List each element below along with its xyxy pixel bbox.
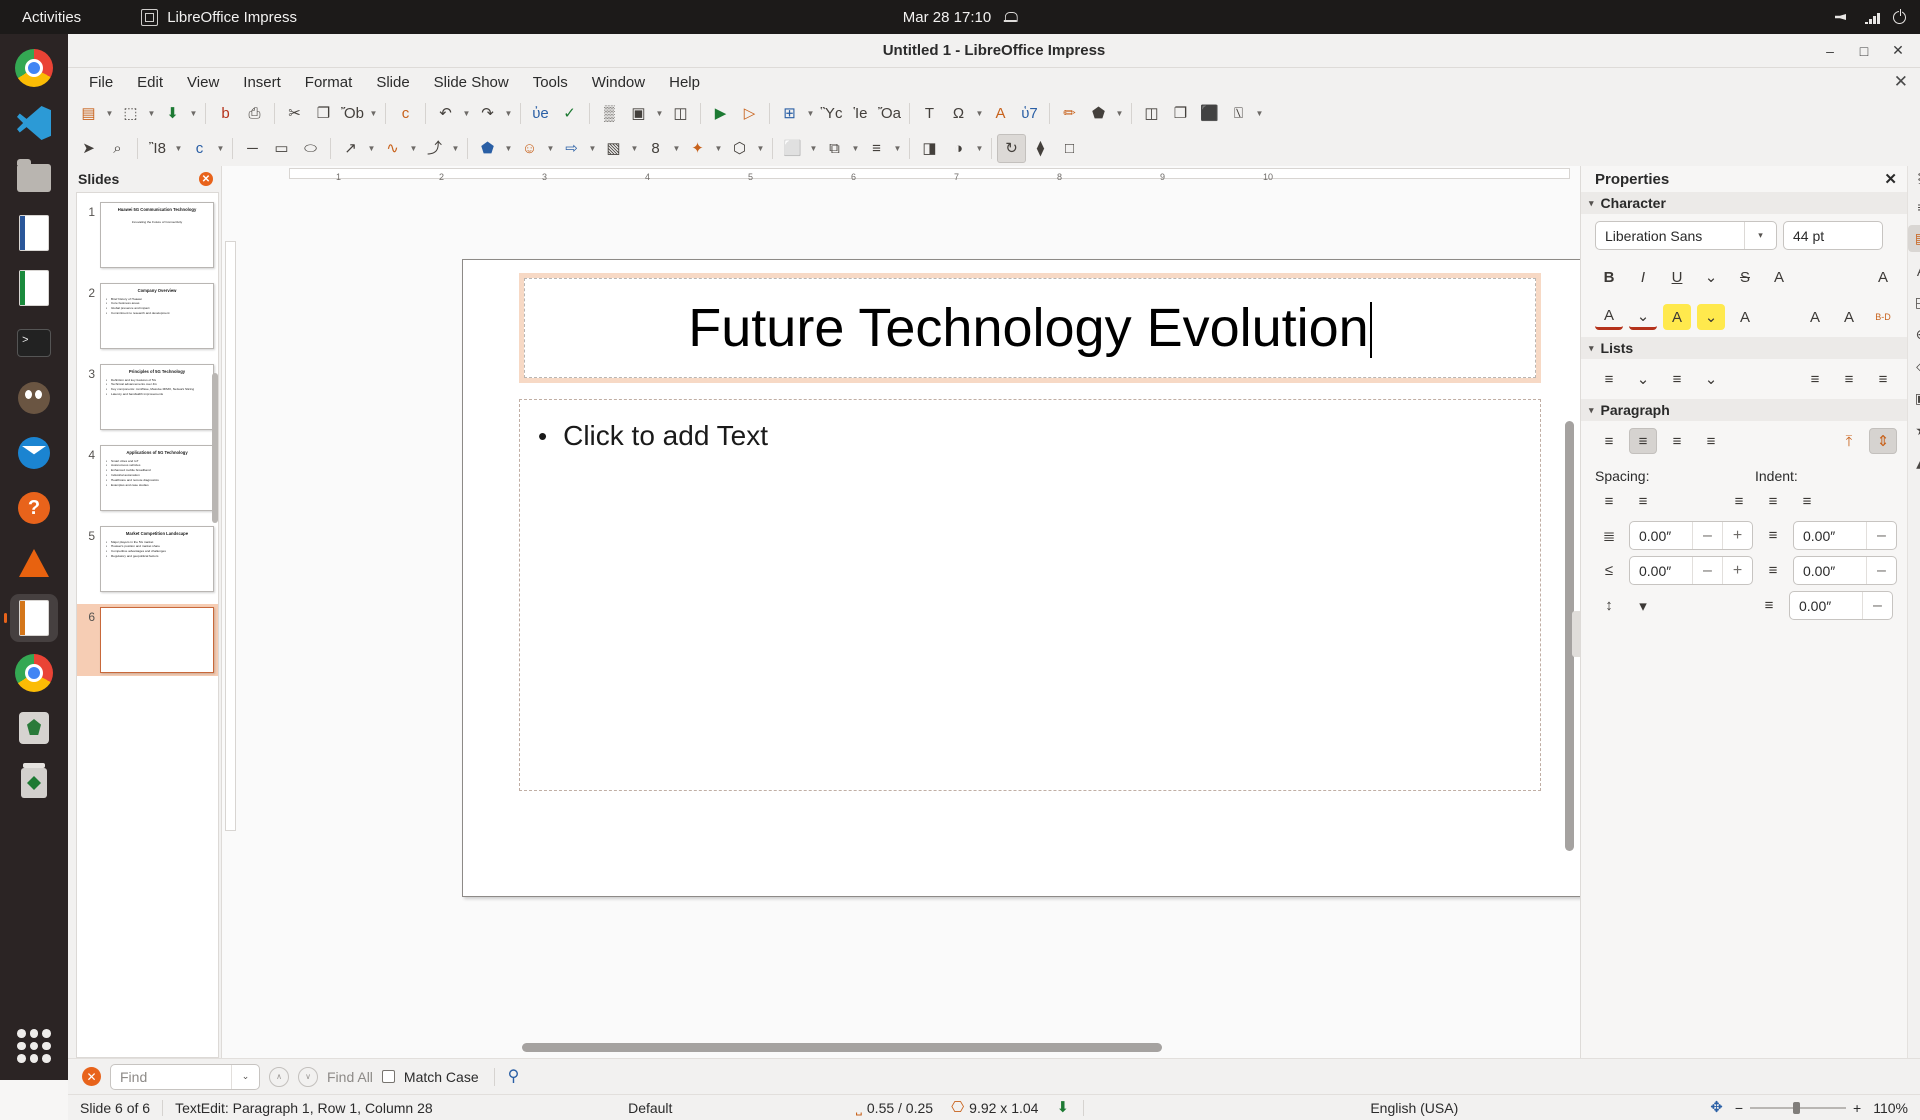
size-icon: ⎔ (951, 1100, 964, 1115)
insert-table-button[interactable]: ⊞ (775, 99, 804, 128)
copy-button[interactable]: ❐ (309, 99, 338, 128)
dock-item-impress[interactable] (10, 594, 58, 642)
spacing-indent-labels: Spacing: Indent: (1581, 461, 1907, 486)
slide-canvas[interactable]: Future Technology Evolution • Click to a… (462, 259, 1580, 897)
start-from-first-slide-button[interactable]: ▶ (706, 99, 735, 128)
sidebar-styles-tab[interactable]: A (1908, 257, 1920, 284)
block-arrows-button[interactable]: ⇨ (557, 134, 586, 163)
rotate-object-button[interactable]: ↻ (997, 134, 1026, 163)
decrease-paragraph-spacing-button[interactable]: ≡ (1629, 488, 1657, 514)
font-name-dropdown-icon[interactable]: ▾ (1744, 222, 1776, 249)
zoom-out-button[interactable]: − (1735, 1100, 1743, 1116)
distribute-selection-button[interactable]: ≡ (862, 134, 891, 163)
start-from-current-slide-button[interactable]: ▷ (735, 99, 764, 128)
underline-dropdown[interactable]: ⌄ (1697, 264, 1725, 290)
line-spacing-row: ↕ ▾ ≡ 0.00″ – (1581, 588, 1907, 627)
match-case-checkbox[interactable] (382, 1070, 395, 1083)
toolbar-separator (385, 103, 386, 124)
find-history-dropdown-icon[interactable]: ⌄ (231, 1065, 259, 1089)
thumbnail-title: Principles of 5G Technology (106, 369, 208, 375)
basic-shapes-icon: ⬟ (1092, 106, 1105, 121)
display-views-dropdown-icon[interactable]: ▼ (653, 99, 666, 128)
insert-special-character-dropdown-icon[interactable]: ▼ (973, 99, 986, 128)
slide-number: 6 (79, 607, 95, 624)
zoom-level[interactable]: 110% (1861, 1100, 1920, 1116)
zoom-in-button[interactable]: + (1853, 1100, 1861, 1116)
callout-shapes-button[interactable]: ὞8 (641, 134, 670, 163)
character-spacing-button[interactable]: B-D (1869, 304, 1897, 330)
insert-text-box-button[interactable]: T (915, 99, 944, 128)
filter-image-icon: ◑ (954, 141, 963, 156)
callout-shapes-dropdown-icon[interactable]: ▼ (670, 134, 683, 163)
indent-after-value: 0.00″ (1794, 563, 1866, 579)
block-arrows-icon: ⇨ (565, 141, 578, 156)
lines-and-arrows-dropdown-icon[interactable]: ▼ (365, 134, 378, 163)
select-tool-button[interactable]: ➤ (74, 134, 103, 163)
distribute-selection-dropdown-icon[interactable]: ▼ (891, 134, 904, 163)
promote-outline-button[interactable]: ≡ (1835, 366, 1863, 392)
sidebar-master-slides-tab[interactable]: ▣ (1908, 385, 1920, 412)
cut-button[interactable]: ✂ (280, 99, 309, 128)
menu-help[interactable]: Help (658, 71, 711, 94)
thumbnail-title: Huawei 5G Communication Technology (106, 207, 208, 213)
clock-label: Mar 28 17:10 (903, 9, 991, 26)
slide-thumbnail-3[interactable]: 3Principles of 5G TechnologyDefinition a… (77, 361, 218, 433)
close-document-button[interactable]: ✕ (1894, 72, 1908, 92)
superscript-button[interactable]: A (1801, 304, 1829, 330)
find-input[interactable]: Find ⌄ (110, 1064, 260, 1090)
terminal-icon (17, 329, 51, 357)
show-draw-functions-button[interactable]: ✏ (1055, 99, 1084, 128)
rotate-object-icon: ↻ (1005, 141, 1018, 156)
minimize-button[interactable]: – (1816, 37, 1844, 65)
status-bar: Slide 6 of 6 TextEdit: Paragraph 1, Row … (68, 1094, 1920, 1120)
unordered-list-dropdown[interactable]: ⌄ (1629, 366, 1657, 392)
sidebar-slide-transition-tab[interactable]: ◭ (1908, 449, 1920, 476)
sidebar-deck: Properties ✕ ▾ Character Liberation Sans… (1581, 166, 1907, 1058)
line-spacing-dropdown-icon[interactable]: ▾ (1629, 593, 1657, 619)
lines-and-arrows-button[interactable]: ↗ (336, 134, 365, 163)
slide-title-text[interactable]: Future Technology Evolution (688, 297, 1371, 359)
rectangle-icon: ▭ (274, 141, 288, 156)
slide-thumbnail-preview[interactable]: Principles of 5G TechnologyDefinition an… (100, 364, 214, 430)
arrange-stack-dropdown-icon[interactable]: ▼ (849, 134, 862, 163)
lists-buttons-row: ≡⌄≡⌄≡≡≡ (1581, 359, 1907, 399)
spacing-below-increase[interactable]: + (1722, 557, 1752, 584)
unordered-list-button[interactable]: ≡ (1595, 366, 1623, 392)
open-document-button[interactable]: ⬚ (116, 99, 145, 128)
arrange-stack-button[interactable]: ⧉ (820, 134, 849, 163)
display-grid-icon: ▒ (604, 106, 615, 121)
shadow-text-button[interactable]: A (1765, 264, 1793, 290)
clone-formatting-button[interactable]: ὘c (391, 99, 420, 128)
fill-color-dropdown-icon[interactable]: ▼ (172, 134, 185, 163)
slide-thumbnail-preview[interactable]: Market Competition LandscapeMajor player… (100, 526, 214, 592)
symbol-shapes-button[interactable]: ☺ (515, 134, 544, 163)
align-left-button[interactable]: ≡ (1595, 428, 1623, 454)
display-views-button[interactable]: ▣ (624, 99, 653, 128)
dock-item-writer[interactable] (10, 209, 58, 257)
text-caret (1370, 302, 1372, 358)
dock-item-vlc[interactable] (10, 539, 58, 587)
shadow-button[interactable]: ⬛ (1195, 99, 1224, 128)
sidebar-shapes-tab[interactable]: ◇ (1908, 353, 1920, 380)
indent-before-decrease[interactable]: – (1866, 522, 1896, 549)
block-arrows-dropdown-icon[interactable]: ▼ (586, 134, 599, 163)
font-size-field[interactable]: 44 pt (1783, 221, 1883, 250)
horizontal-scrollbar[interactable] (522, 1043, 1162, 1052)
spacing-above-increase[interactable]: + (1722, 522, 1752, 549)
zoom-tool-icon: ⌕ (113, 141, 121, 156)
dock-item-calc[interactable] (10, 264, 58, 312)
zoom-tool-button[interactable]: ⌕ (103, 134, 132, 163)
increase-indent-button[interactable]: ≡ (1725, 488, 1753, 514)
symbol-shapes-dropdown-icon[interactable]: ▼ (544, 134, 557, 163)
slide-thumbnail-preview[interactable] (100, 607, 214, 673)
redo-dropdown-icon[interactable]: ▼ (502, 99, 515, 128)
indent-first-line-decrease[interactable]: – (1862, 592, 1892, 619)
dock-item-software[interactable] (10, 704, 58, 752)
clear-formatting-button[interactable]: A (1731, 304, 1759, 330)
close-sidebar-icon[interactable]: ✕ (1884, 170, 1897, 188)
connectors-button[interactable]: ⤴ (420, 134, 449, 163)
toolbar-separator (520, 103, 521, 124)
insert-table-icon: ⊞ (783, 106, 796, 121)
save-status-icon[interactable]: ⬇ (1056, 1100, 1069, 1115)
network-icon (1865, 11, 1881, 24)
menu-file[interactable]: File (78, 71, 124, 94)
sidebar-grip[interactable] (1917, 172, 1920, 184)
insert-hyperlink-button[interactable]: ὑ7 (1015, 99, 1044, 128)
subscript-button[interactable]: A (1835, 304, 1863, 330)
clock-area[interactable]: Mar 28 17:10 (903, 9, 1017, 26)
slide-thumbnail-2[interactable]: 2Company OverviewBrief history of Huawei… (77, 280, 218, 352)
insert-fontwork-button[interactable]: A (986, 99, 1015, 128)
dock-item-thunderbird[interactable] (10, 429, 58, 477)
basic-shapes-2-icon: ⬟ (481, 141, 494, 156)
insert-chart-button[interactable]: Ὄa (875, 99, 904, 128)
undo-button[interactable]: ↶ (431, 99, 460, 128)
save-document-icon: ⬇ (166, 106, 179, 121)
line-color-dropdown-icon[interactable]: ▼ (214, 134, 227, 163)
basic-shapes-button[interactable]: ⬟ (1084, 99, 1113, 128)
points-edit-button[interactable]: □ (1055, 134, 1084, 163)
line-color-button[interactable]: ὘c (185, 134, 214, 163)
highlight-color-dropdown[interactable]: ⌄ (1697, 304, 1725, 330)
slide-thumbnail-preview[interactable]: Huawei 5G Communication TechnologyInnova… (100, 202, 214, 268)
basic-shapes-dropdown-icon[interactable]: ▼ (1113, 99, 1126, 128)
system-tray[interactable] (1835, 10, 1906, 24)
dock-item-gimp[interactable] (10, 374, 58, 422)
close-slides-panel-icon[interactable]: ✕ (199, 172, 213, 186)
sidebar-collapse-handle[interactable] (1572, 611, 1580, 657)
thumbnail-subtitle: Innovating the Future of Connectivity (106, 220, 208, 224)
impress-dock-icon (19, 600, 49, 636)
ellipse-button[interactable]: ⬭ (296, 134, 325, 163)
spacing-above-field[interactable]: 0.00″ – + (1629, 521, 1753, 550)
dock-item-firefox[interactable] (10, 649, 58, 697)
align-objects-button[interactable]: ◫ (1137, 99, 1166, 128)
find-previous-button[interactable]: ∧ (269, 1067, 289, 1087)
font-name-field[interactable]: Liberation Sans ▾ (1595, 221, 1777, 250)
spacing-below-field[interactable]: 0.00″ – + (1629, 556, 1753, 585)
align-center-button[interactable]: ≡ (1629, 428, 1657, 454)
slide-thumbnail-preview[interactable]: Applications of 5G TechnologySmart citie… (100, 445, 214, 511)
dock-item-files[interactable] (10, 154, 58, 202)
callout-shapes-icon: ὞8 (651, 141, 659, 156)
chrome-icon (15, 49, 53, 87)
menu-format[interactable]: Format (294, 71, 364, 94)
insert-fontwork-icon: A (995, 106, 1005, 121)
sidebar-animation-tab[interactable]: ★ (1908, 417, 1920, 444)
menu-view[interactable]: View (176, 71, 230, 94)
thumbnail-bullet-item: Regulatory and geopolitical factors (106, 554, 208, 559)
menu-window[interactable]: Window (581, 71, 656, 94)
display-views-icon: ▣ (631, 106, 645, 121)
filter-image-button[interactable]: ◑ (944, 134, 973, 163)
curves-and-polygons-dropdown-icon[interactable]: ▼ (407, 134, 420, 163)
display-grid-button[interactable]: ▒ (595, 99, 624, 128)
slide-number: 3 (79, 364, 95, 381)
italic-button[interactable]: I (1629, 264, 1657, 290)
ordered-list-dropdown[interactable]: ⌄ (1697, 366, 1725, 392)
close-window-button[interactable]: ✕ (1884, 37, 1912, 65)
export-pdf-button[interactable]: ὜b (211, 99, 240, 128)
spacing-below-value: 0.00″ (1630, 563, 1692, 579)
rectangle-button[interactable]: ▭ (267, 134, 296, 163)
crop-image-dropdown-icon[interactable]: ▼ (1253, 99, 1266, 128)
dock-item-vscode[interactable] (10, 99, 58, 147)
hanging-indent-button[interactable]: ≡ (1793, 488, 1821, 514)
active-app-indicator[interactable]: LibreOffice Impress (141, 9, 297, 26)
insert-audio-video-icon: Ἱe (854, 106, 868, 121)
content-placeholder-prompt[interactable]: • Click to add Text (538, 420, 768, 452)
slide-thumbnail-preview[interactable]: Company OverviewBrief history of HuaweiC… (100, 283, 214, 349)
ordered-list-button[interactable]: ≡ (1663, 366, 1691, 392)
underline-button[interactable]: U (1663, 264, 1691, 290)
line-spacing-button[interactable]: ↕ (1595, 593, 1623, 619)
stars-and-banners-dropdown-icon[interactable]: ▼ (712, 134, 725, 163)
bold-button[interactable]: B (1595, 264, 1623, 290)
dock-item-chrome[interactable] (10, 44, 58, 92)
slides-panel-scrollbar[interactable] (212, 373, 218, 523)
redo-button[interactable]: ↷ (473, 99, 502, 128)
new-document-dropdown-icon[interactable]: ▼ (103, 99, 116, 128)
content-placeholder[interactable]: • Click to add Text (519, 399, 1541, 791)
dock-item-trash[interactable] (10, 759, 58, 807)
open-document-dropdown-icon[interactable]: ▼ (145, 99, 158, 128)
paste-dropdown-icon[interactable]: ▼ (367, 99, 380, 128)
properties-sidebar: Properties ✕ ▾ Character Liberation Sans… (1580, 166, 1920, 1058)
thumbnail-title: Applications of 5G Technology (106, 450, 208, 456)
menu-slide[interactable]: Slide (365, 71, 420, 94)
libreoffice-impress-window: Untitled 1 - LibreOffice Impress – □ ✕ F… (68, 34, 1920, 1080)
dock-item-terminal[interactable] (10, 319, 58, 367)
master-slide-icon: ◫ (673, 106, 687, 121)
menu-insert[interactable]: Insert (232, 71, 292, 94)
increase-paragraph-spacing-button[interactable]: ≡ (1595, 488, 1623, 514)
slide-thumbnail-6[interactable]: 6 (77, 604, 218, 676)
slide-thumbnail-1[interactable]: 1Huawei 5G Communication TechnologyInnov… (77, 199, 218, 271)
demote-outline-button[interactable]: ≡ (1801, 366, 1829, 392)
new-document-button[interactable]: ▤ (74, 99, 103, 128)
slide-number: 4 (79, 445, 95, 462)
sidebar-navigator-tab[interactable]: ⊕ (1908, 321, 1920, 348)
insert-image-button[interactable]: Ὓc (817, 99, 846, 128)
insert-line-button[interactable]: ─ (238, 134, 267, 163)
flowchart-shapes-button[interactable]: ▧ (599, 134, 628, 163)
align-left-objects-dropdown-icon[interactable]: ▼ (807, 134, 820, 163)
3d-objects-dropdown-icon[interactable]: ▼ (754, 134, 767, 163)
slide-thumbnail-4[interactable]: 4Applications of 5G TechnologySmart citi… (77, 442, 218, 514)
font-color-dropdown[interactable]: ⌄ (1629, 304, 1657, 330)
clone-formatting-icon: ὘c (402, 106, 410, 121)
paragraph-section-header[interactable]: ▾ Paragraph (1581, 399, 1907, 421)
spacing-below-decrease[interactable]: – (1692, 557, 1722, 584)
zoom-slider[interactable]: − + (1735, 1100, 1861, 1116)
title-placeholder[interactable]: Future Technology Evolution (519, 273, 1541, 383)
3d-objects-button[interactable]: ⬡ (725, 134, 754, 163)
basic-shapes-2-button[interactable]: ⬟ (473, 134, 502, 163)
thumbnail-bullets: Brief history of HuaweiCore business are… (106, 297, 208, 316)
lines-and-arrows-icon: ↗ (344, 141, 357, 156)
firefox-icon (15, 654, 53, 692)
fill-color-icon: Ἲ8 (149, 141, 166, 156)
shadow-toggle-button[interactable]: ◨ (915, 134, 944, 163)
indent-after-icon: ≡ (1759, 558, 1787, 584)
find-and-replace-button[interactable]: ὐe (526, 99, 555, 128)
show-applications-button[interactable] (14, 1026, 54, 1066)
spelling-button[interactable]: ✓ (555, 99, 584, 128)
indent-first-line-value: 0.00″ (1790, 598, 1862, 614)
find-toolbar: ✕ Find ⌄ ∧ ∨ Find All Match Case ⚲ (68, 1058, 1920, 1094)
crop-image-button[interactable]: ⍂ (1224, 99, 1253, 128)
save-document-dropdown-icon[interactable]: ▼ (187, 99, 200, 128)
indent-after-field[interactable]: 0.00″ – (1793, 556, 1897, 585)
find-and-replace-icon: ὐe (532, 106, 549, 121)
sidebar-gallery-tab[interactable]: ◱ (1908, 289, 1920, 316)
zoom-slider-knob[interactable] (1793, 1102, 1800, 1114)
find-next-button[interactable]: ∨ (298, 1067, 318, 1087)
thumbnail-bullet-item: Commitment to research and development (106, 311, 208, 316)
align-top-button[interactable]: ⤒ (1835, 428, 1863, 454)
language-status[interactable]: English (USA) (1358, 1100, 1470, 1116)
redo-icon: ↷ (481, 106, 494, 121)
slides-panel-title: Slides (78, 171, 119, 187)
toolbar-separator (274, 103, 275, 124)
gnome-top-bar: Activities LibreOffice Impress Mar 28 17… (0, 0, 1920, 34)
slide-thumbnail-list[interactable]: 1Huawei 5G Communication TechnologyInnov… (76, 192, 219, 1058)
sidebar-tab-bar: ≡▤A◱⊕◇▣★◭ (1907, 166, 1920, 1058)
insert-table-dropdown-icon[interactable]: ▼ (804, 99, 817, 128)
center-vertically-button[interactable]: ⇕ (1869, 428, 1897, 454)
vertical-ruler[interactable] (222, 181, 238, 1058)
font-color-button[interactable]: A (1595, 304, 1623, 330)
find-and-replace-icon[interactable]: ⚲ (508, 1069, 520, 1085)
toolbar-separator (467, 138, 468, 159)
character-format-row-1: BIU⌄SAA (1581, 257, 1907, 297)
thumbnail-bullet-item: Latency and bandwidth improvements (106, 392, 208, 397)
insert-special-character-button[interactable]: Ω (944, 99, 973, 128)
basic-shapes-2-dropdown-icon[interactable]: ▼ (502, 134, 515, 163)
spacing-above-decrease[interactable]: – (1692, 522, 1722, 549)
power-icon (1893, 11, 1906, 24)
menu-tools[interactable]: Tools (522, 71, 579, 94)
undo-dropdown-icon[interactable]: ▼ (460, 99, 473, 128)
close-find-toolbar-icon[interactable]: ✕ (82, 1067, 101, 1086)
save-document-button[interactable]: ⬇ (158, 99, 187, 128)
spelling-icon: ✓ (563, 106, 576, 121)
character-section-header[interactable]: ▾ Character (1581, 192, 1907, 214)
activities-button[interactable]: Activities (22, 9, 81, 26)
thumbnail-bullets: Definition and key features of 5GTechnic… (106, 378, 208, 397)
match-case-label[interactable]: Match Case (404, 1069, 479, 1085)
paste-button[interactable]: Ὄb (338, 99, 367, 128)
indent-after-decrease[interactable]: – (1866, 557, 1896, 584)
sidebar-settings-tab[interactable]: ≡ (1908, 193, 1920, 220)
connectors-dropdown-icon[interactable]: ▼ (449, 134, 462, 163)
dock-item-help[interactable]: ? (10, 484, 58, 532)
align-objects-icon: ◫ (1144, 106, 1158, 121)
zoom-slider-track[interactable] (1750, 1107, 1846, 1109)
curves-and-polygons-button[interactable]: ∿ (378, 134, 407, 163)
print-button[interactable]: ⎙ (240, 99, 269, 128)
start-from-current-slide-icon: ▷ (744, 106, 756, 121)
main-body: Slides ✕ 1Huawei 5G Communication Techno… (68, 166, 1920, 1058)
impress-icon (141, 9, 158, 26)
master-slide-button[interactable]: ◫ (666, 99, 695, 128)
toolbar-separator (991, 138, 992, 159)
arrange-objects-button[interactable]: ❐ (1166, 99, 1195, 128)
menu-edit[interactable]: Edit (126, 71, 174, 94)
arrange-stack-icon: ⧉ (829, 141, 840, 156)
paragraph-section-label: Paragraph (1601, 402, 1670, 418)
find-all-button[interactable]: Find All (327, 1069, 373, 1085)
toggle-extrusion-button[interactable]: ⧫ (1026, 134, 1055, 163)
align-justified-button[interactable]: ≡ (1697, 428, 1725, 454)
sidebar-deck-title: Properties (1595, 171, 1669, 188)
slide-thumbnail-5[interactable]: 5Market Competition LandscapeMajor playe… (77, 523, 218, 595)
print-icon: ⎙ (248, 106, 260, 121)
toolbar-separator (232, 138, 233, 159)
horizontal-ruler[interactable]: 12345678910 (240, 166, 1580, 181)
indent-first-line-field[interactable]: 0.00″ – (1789, 591, 1893, 620)
highlight-color-button[interactable]: A (1663, 304, 1691, 330)
filter-image-dropdown-icon[interactable]: ▼ (973, 134, 986, 163)
strikethrough-button[interactable]: S (1731, 264, 1759, 290)
sidebar-properties-tab[interactable]: ▤ (1908, 225, 1920, 252)
align-left-objects-button[interactable]: ⬜ (778, 134, 807, 163)
lists-section-header[interactable]: ▾ Lists (1581, 337, 1907, 359)
fill-color-button[interactable]: Ἲ8 (143, 134, 172, 163)
stars-and-banners-button[interactable]: ✦ (683, 134, 712, 163)
toolbar-separator (205, 103, 206, 124)
maximize-button[interactable]: □ (1850, 37, 1878, 65)
indent-before-field[interactable]: 0.00″ – (1793, 521, 1897, 550)
decrease-indent-button[interactable]: ≡ (1759, 488, 1787, 514)
slide-number: 5 (79, 526, 95, 543)
increase-font-size-button[interactable]: A (1869, 264, 1897, 290)
insert-audio-video-button[interactable]: Ἱe (846, 99, 875, 128)
thumbnail-title: Market Competition Landscape (106, 531, 208, 537)
move-down-button[interactable]: ≡ (1869, 366, 1897, 392)
flowchart-shapes-dropdown-icon[interactable]: ▼ (628, 134, 641, 163)
menu-slide-show[interactable]: Slide Show (423, 71, 520, 94)
fit-slide-icon[interactable]: ✥ (1710, 1100, 1723, 1115)
align-right-button[interactable]: ≡ (1663, 428, 1691, 454)
thumbnail-bullets: Major players in the 5G marketHuawei's p… (106, 540, 208, 559)
curves-and-polygons-icon: ∿ (386, 141, 399, 156)
